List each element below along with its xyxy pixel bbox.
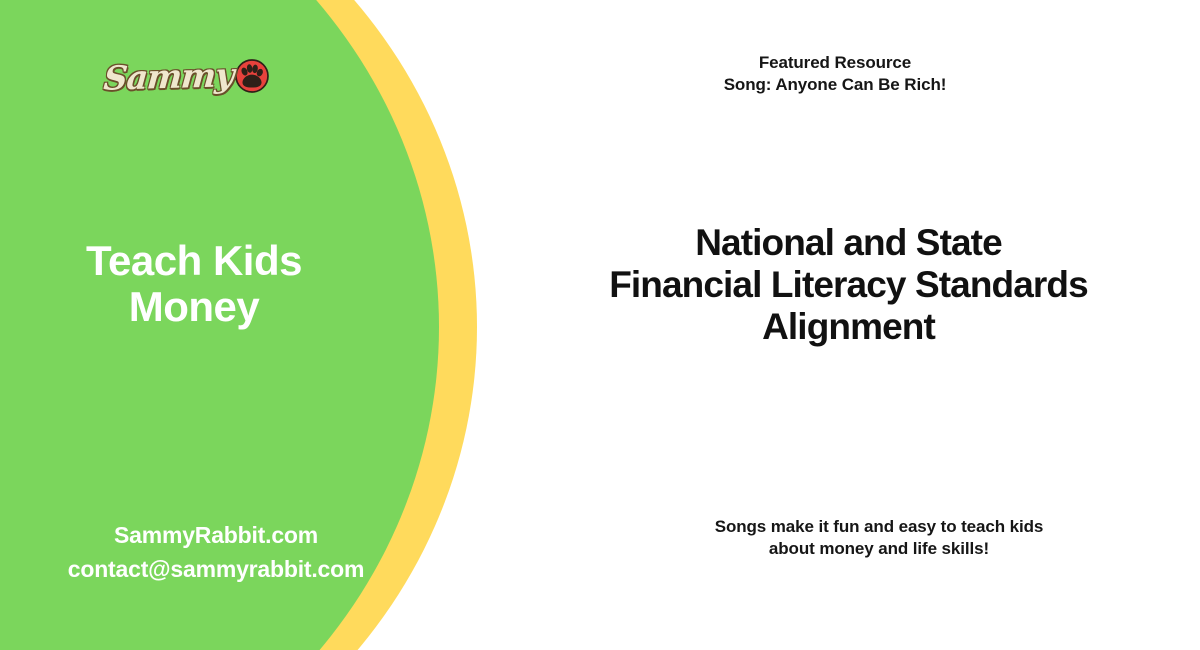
logo-wordmark: Sammy	[102, 55, 235, 97]
website-link[interactable]: SammyRabbit.com	[0, 518, 432, 552]
right-panel: Featured Resource Song: Anyone Can Be Ri…	[520, 0, 1200, 650]
featured-resource-label: Featured Resource Song: Anyone Can Be Ri…	[520, 52, 1150, 96]
tagline: Songs make it fun and easy to teach kids…	[530, 516, 1200, 560]
email-link[interactable]: contact@sammyrabbit.com	[0, 552, 432, 586]
page-title: National and State Financial Literacy St…	[520, 222, 1177, 348]
contact-block: SammyRabbit.com contact@sammyrabbit.com	[0, 518, 432, 586]
sammy-logo[interactable]: Sammy	[104, 48, 276, 104]
left-heading: Teach Kids Money	[0, 238, 388, 330]
left-panel: Sammy Teach Kids Money SammyRabbit.com c…	[0, 0, 400, 650]
paw-print-icon	[235, 59, 269, 93]
promo-card: Sammy Teach Kids Money SammyRabbit.com c…	[0, 0, 1200, 650]
